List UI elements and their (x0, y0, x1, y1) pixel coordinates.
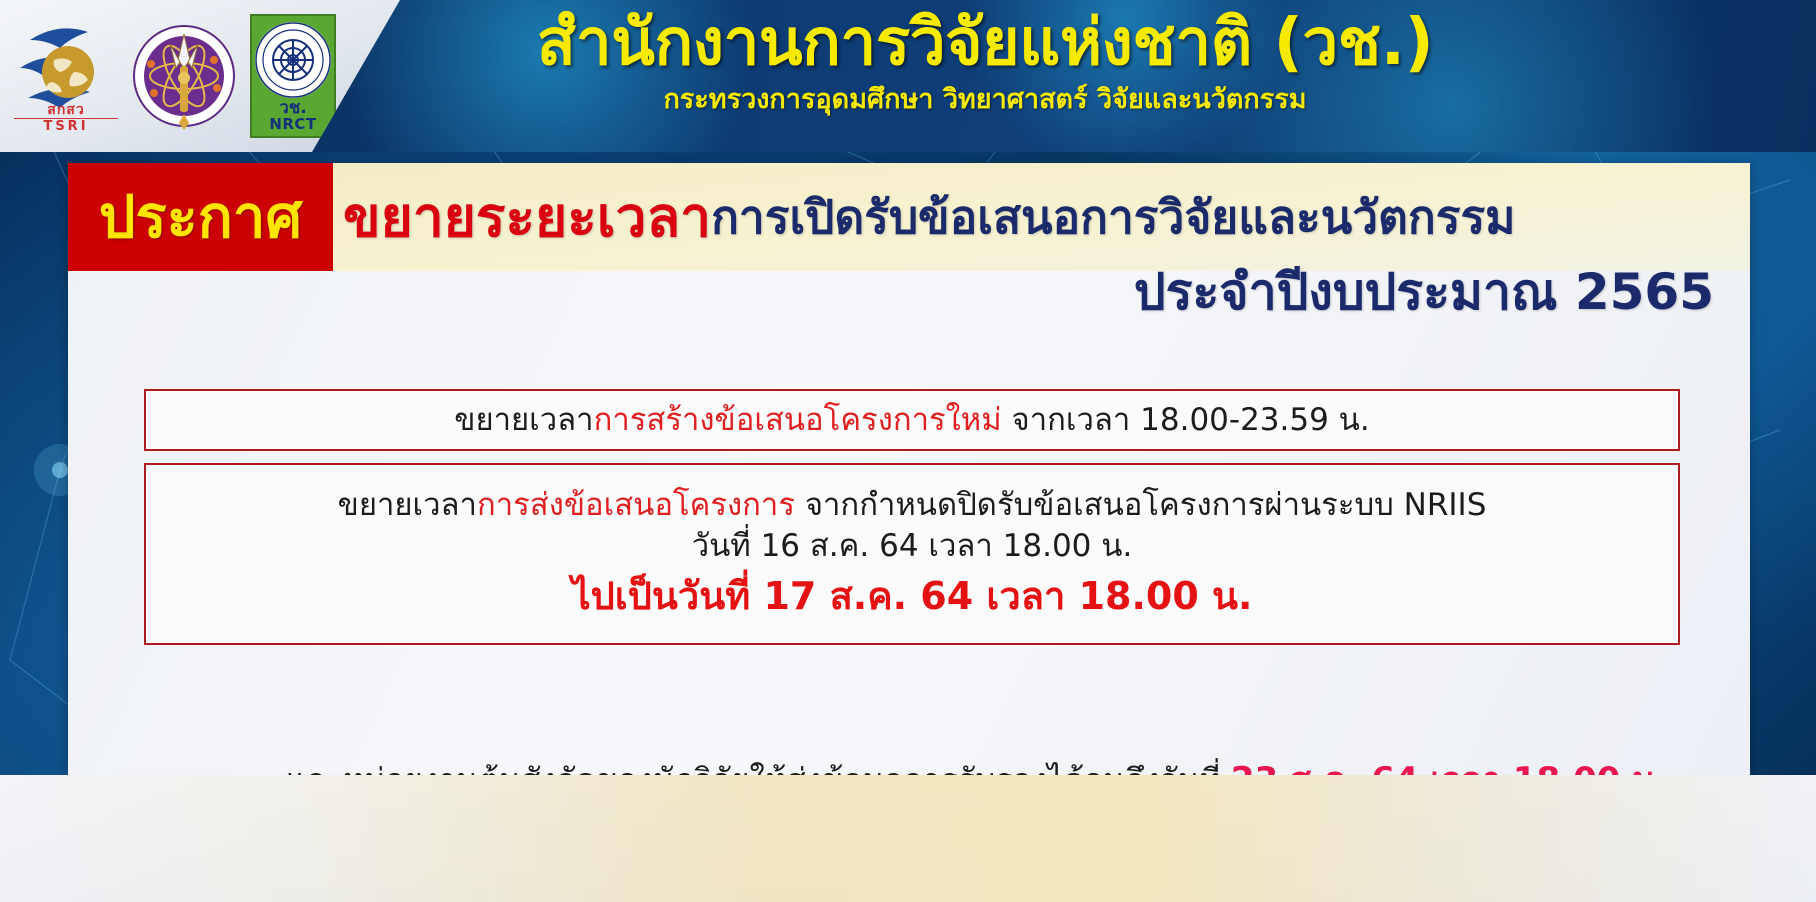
ministry-logo (132, 20, 236, 132)
announcement-badge: ประกาศ (68, 163, 333, 271)
announcement-title-red: ขยายระยะเวลา (343, 190, 711, 245)
new-proposal-tail: จากเวลา 18.00-23.59 น. (1002, 402, 1370, 438)
nrct-logo: วช. NRCT (250, 14, 336, 138)
info-box-new-proposal-line: ขยายเวลาการสร้างข้อเสนอโครงการใหม่ จากเว… (454, 400, 1369, 441)
submit-proposal-lead: ขยายเวลา (338, 487, 477, 523)
announcement-card: ประกาศ ขยายระยะเวลา การเปิดรับข้อเสนอการ… (68, 163, 1750, 775)
announcement-title-blue: การเปิดรับข้อเสนอการวิจัยและนวัตกรรม (711, 194, 1515, 240)
gold-accent-strip (0, 775, 1816, 902)
organization-subtitle: กระทรวงการอุดมศึกษา วิทยาศาสตร์ วิจัยและ… (360, 84, 1610, 116)
announcement-title-row: ประกาศ ขยายระยะเวลา การเปิดรับข้อเสนอการ… (68, 163, 1750, 271)
submit-proposal-old-deadline: วันที่ 16 ส.ค. 64 เวลา 18.00 น. (692, 526, 1133, 567)
announcement-title-line2: ประจำปีงบประมาณ 2565 (68, 267, 1750, 317)
tsri-logo-thai: สกสว (47, 102, 84, 118)
info-box-new-proposal: ขยายเวลาการสร้างข้อเสนอโครงการใหม่ จากเว… (144, 389, 1680, 451)
submit-proposal-highlight: การส่งข้อเสนอโครงการ (477, 487, 795, 523)
tsri-logo: สกสว TSRI (14, 16, 118, 136)
nrct-logo-label: วช. NRCT (269, 100, 316, 132)
submit-proposal-new-deadline: ไปเป็นวันที่ 17 ส.ค. 64 เวลา 18.00 น. (572, 571, 1253, 622)
tsri-logo-label: สกสว TSRI (14, 103, 118, 134)
header-title-block: สำนักงานการวิจัยแห่งชาติ (วช.) กระทรวงกา… (360, 6, 1610, 116)
tsri-logo-latin: TSRI (14, 118, 118, 134)
submit-proposal-tail: จากกำหนดปิดรับข้อเสนอโครงการผ่านระบบ NRI… (795, 487, 1486, 523)
poster-header: สกสว TSRI (0, 0, 1816, 152)
info-box-submit-proposal: ขยายเวลาการส่งข้อเสนอโครงการ จากกำหนดปิด… (144, 463, 1680, 645)
submit-proposal-line1: ขยายเวลาการส่งข้อเสนอโครงการ จากกำหนดปิด… (338, 485, 1487, 526)
announcement-badge-label: ประกาศ (99, 188, 303, 246)
new-proposal-highlight: การสร้างข้อเสนอโครงการใหม่ (594, 402, 1002, 438)
organization-title: สำนักงานการวิจัยแห่งชาติ (วช.) (360, 6, 1610, 82)
new-proposal-lead: ขยายเวลา (454, 402, 593, 438)
announcement-poster: สกสว TSRI (0, 0, 1816, 902)
nrct-logo-latin: NRCT (269, 117, 316, 132)
announcement-title-band: ขยายระยะเวลา การเปิดรับข้อเสนอการวิจัยแล… (333, 163, 1750, 271)
